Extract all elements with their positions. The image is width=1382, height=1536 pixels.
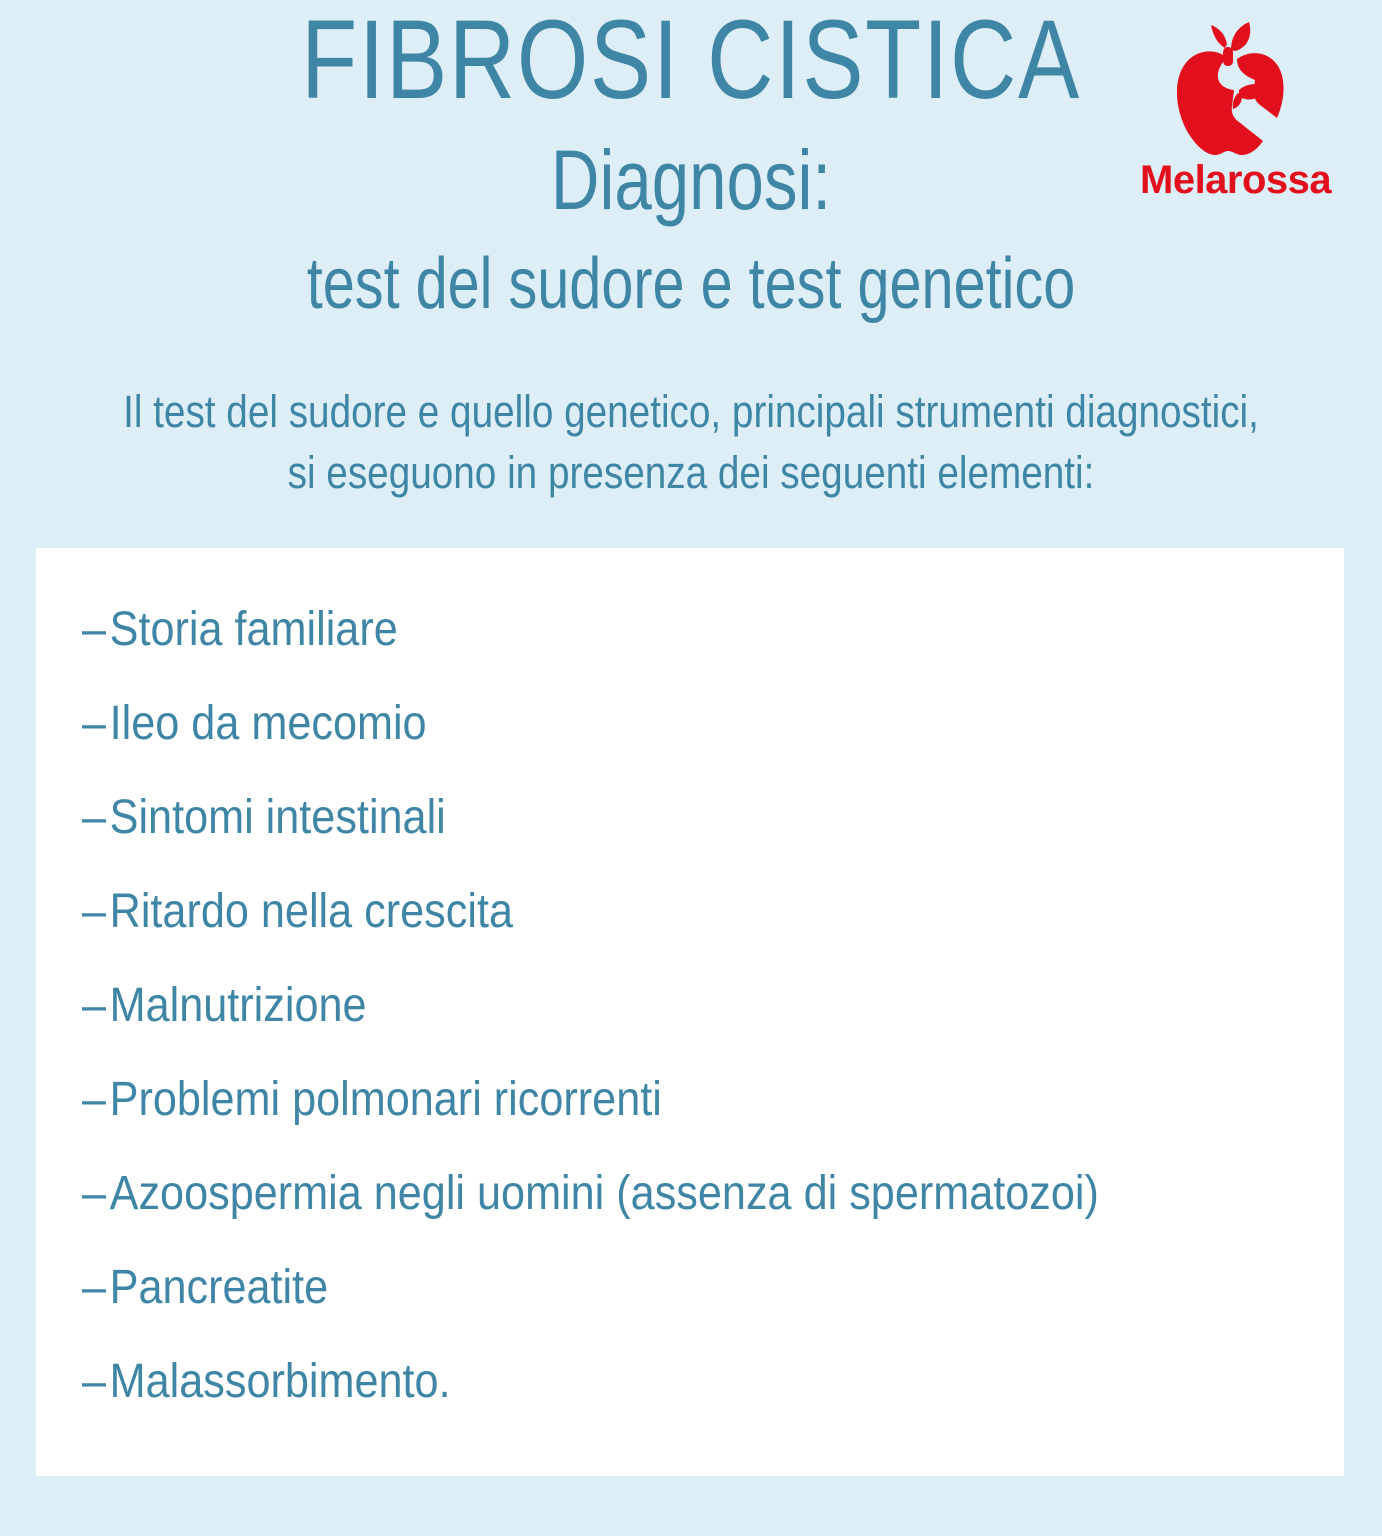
list-item-label: Problemi polmonari ricorrenti (110, 1073, 662, 1126)
list-item: –Malnutrizione (82, 982, 1344, 1076)
page-subtitle-secondary: test del sudore e test genetico (138, 222, 1244, 320)
list-bullet: – (82, 1358, 110, 1406)
symptom-list: –Storia familiare –Ileo da mecomio –Sint… (82, 606, 1344, 1452)
list-bullet: – (82, 982, 110, 1030)
brand-wordmark: Melarossa (1140, 160, 1320, 200)
list-bullet: – (82, 888, 110, 936)
list-item: –Problemi polmonari ricorrenti (82, 1076, 1344, 1170)
intro-paragraph: Il test del sudore e quello genetico, pr… (0, 382, 1382, 504)
list-item: –Pancreatite (82, 1264, 1344, 1358)
list-item: –Ileo da mecomio (82, 700, 1344, 794)
list-item-label: Ritardo nella crescita (110, 885, 513, 938)
list-item: –Storia familiare (82, 606, 1344, 700)
list-item-label: Malnutrizione (110, 979, 367, 1032)
intro-line-1: Il test del sudore e quello genetico, pr… (97, 382, 1286, 443)
list-item: –Ritardo nella crescita (82, 888, 1344, 982)
list-item-label: Malassorbimento. (110, 1355, 451, 1408)
red-apple-icon (1165, 14, 1295, 164)
list-item: –Sintomi intestinali (82, 794, 1344, 888)
list-bullet: – (82, 1264, 110, 1312)
list-bullet: – (82, 1170, 110, 1218)
list-bullet: – (82, 700, 110, 748)
list-item: –Azoospermia negli uomini (assenza di sp… (82, 1170, 1344, 1264)
list-bullet: – (82, 794, 110, 842)
infographic-poster: FIBROSI CISTICA Diagnosi: test del sudor… (0, 0, 1382, 1536)
page-title: FIBROSI CISTICA (124, 0, 1257, 116)
list-item-label: Pancreatite (110, 1261, 329, 1314)
symptom-list-panel: –Storia familiare –Ileo da mecomio –Sint… (36, 548, 1344, 1476)
brand-logo: Melarossa (1140, 14, 1320, 214)
list-bullet: – (82, 606, 110, 654)
list-item-label: Sintomi intestinali (110, 791, 446, 844)
list-item-label: Azoospermia negli uomini (assenza di spe… (110, 1167, 1099, 1220)
intro-line-2: si eseguono in presenza dei seguenti ele… (97, 443, 1286, 504)
list-item-label: Ileo da mecomio (110, 697, 427, 750)
list-bullet: – (82, 1076, 110, 1124)
list-item-label: Storia familiare (110, 603, 398, 656)
list-item: –Malassorbimento. (82, 1358, 1344, 1452)
page-subtitle: Diagnosi: (138, 116, 1244, 222)
